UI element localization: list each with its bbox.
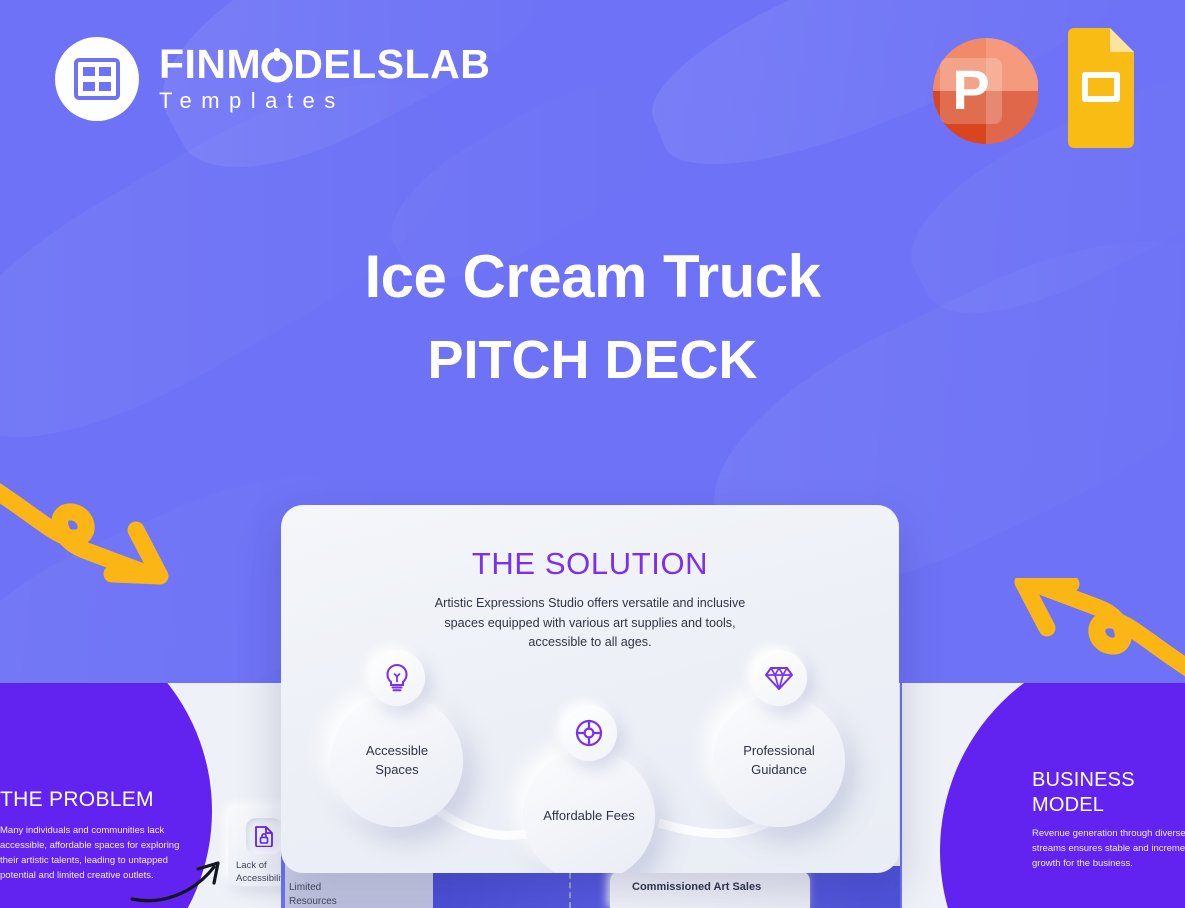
problem-card-label: Lack of Accessibility <box>236 860 281 886</box>
limited-resources-label: Limited Resources <box>289 881 361 908</box>
problem-title: THE PROBLEM <box>0 788 154 812</box>
business-title-line-2: MODEL <box>1032 793 1135 818</box>
title-line-2: PITCH DECK <box>0 332 1185 389</box>
squiggly-arrow-left-icon <box>1000 578 1185 698</box>
page-title: Ice Cream Truck PITCH DECK <box>0 245 1185 389</box>
business-title-line-1: BUSINESS <box>1032 768 1135 793</box>
brand-logo[interactable]: FINM DELSLAB Templates <box>55 37 490 121</box>
squiggly-arrow-right-icon <box>0 462 183 597</box>
locked-document-icon <box>246 818 281 854</box>
commissioned-art-sales-card[interactable]: Commissioned Art Sales <box>610 871 810 908</box>
title-line-1: Ice Cream Truck <box>0 245 1185 308</box>
business-body: Revenue generation through diverse strea… <box>1032 826 1185 872</box>
brand-name-part-1: FINM <box>159 44 261 86</box>
slide-business-model[interactable]: BUSINESS MODEL Revenue generation throug… <box>902 683 1185 908</box>
powerpoint-icon[interactable]: P <box>923 29 1038 147</box>
target-icon <box>561 705 617 761</box>
feature-affordable-fees[interactable]: Affordable Fees <box>523 750 655 873</box>
format-icons-group: P <box>923 28 1140 148</box>
brand-tagline: Templates <box>159 88 490 114</box>
feature-accessible-spaces[interactable]: Accessible Spaces <box>331 695 463 827</box>
solution-card[interactable]: THE SOLUTION Artistic Expressions Studio… <box>281 505 899 873</box>
grid-squares-icon <box>74 56 120 102</box>
slide-the-problem[interactable]: THE PROBLEM Many individuals and communi… <box>0 683 281 908</box>
feature-professional-guidance[interactable]: Professional Guidance <box>713 695 845 827</box>
logo-mark <box>55 37 139 121</box>
feature-label: Professional Guidance <box>743 742 815 780</box>
feature-label: Affordable Fees <box>543 807 635 826</box>
pitch-deck-preview: FINM DELSLAB Templates <box>0 0 1185 908</box>
feature-label: Accessible Spaces <box>366 742 428 780</box>
diamond-icon <box>751 650 807 706</box>
brand-name: FINM DELSLAB <box>159 44 490 86</box>
svg-text:P: P <box>952 58 989 121</box>
curved-arrow-icon <box>130 855 240 908</box>
business-title: BUSINESS MODEL <box>1032 768 1135 818</box>
brand-name-part-2: DELSLAB <box>293 44 490 86</box>
commissioned-art-sales-label: Commissioned Art Sales <box>632 881 761 893</box>
lightbulb-icon <box>369 650 425 706</box>
google-slides-icon[interactable] <box>1060 28 1140 148</box>
power-o-icon <box>260 47 294 83</box>
